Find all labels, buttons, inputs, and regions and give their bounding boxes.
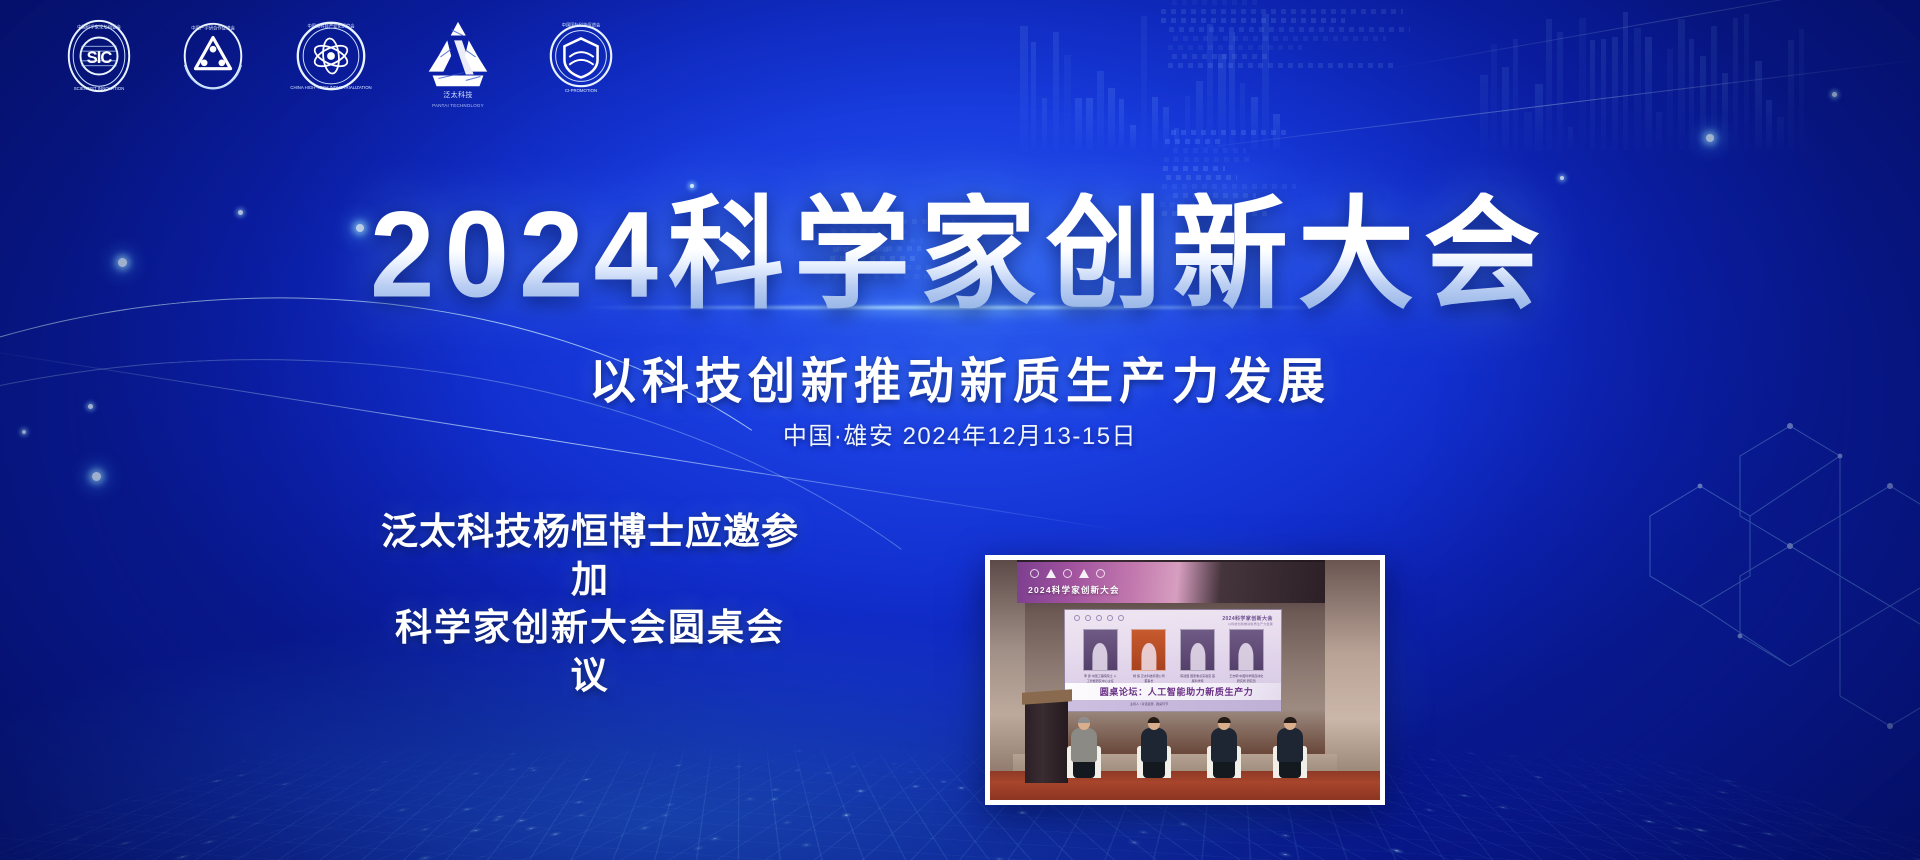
partner-logo-strip: SIC 中国科学家论坛组委会 SCIENTIST INNOVATION 中国产学… (60, 14, 620, 98)
panelist-body (1071, 728, 1097, 762)
backdrop-seal-icon-1 (1030, 569, 1039, 578)
screen-header-sub: 以科技创新推动新质生产力发展 (1222, 622, 1273, 626)
backdrop-seal-icon-3 (1096, 569, 1105, 578)
date-location-line: 中国·雄安 2024年12月13-15日 (0, 416, 1920, 451)
svg-text:SCIENTIST INNOVATION: SCIENTIST INNOVATION (74, 86, 125, 91)
panelist-body (1277, 728, 1303, 762)
screen-speaker-card: 杨 恒 泛太科技有限公司 董事长 (1131, 629, 1166, 683)
panelist-body (1211, 728, 1237, 762)
speaker-portrait (1180, 629, 1215, 671)
logo-delta-caption: 泛太科技 (410, 90, 506, 100)
photo-projection-screen: 2024科学家创新大会 以科技创新推动新质生产力发展 李 彦 中国工程院院士 人… (1064, 609, 1282, 712)
screen-speaker-cards: 李 彦 中国工程院院士 人工智能研究中心主任 杨 恒 泛太科技有限公司 董事长 … (1076, 629, 1271, 680)
logo-delta-caption-sub: PANTAI TECHNOLOGY (410, 103, 506, 108)
svg-text:CHINA HIGH-TECH INDUSTRIALIZAT: CHINA HIGH-TECH INDUSTRIALIZATION (290, 85, 371, 90)
conference-banner: SIC 中国科学家论坛组委会 SCIENTIST INNOVATION 中国产学… (0, 0, 1920, 860)
headline-line-2: 科学家创新大会圆桌会议 (380, 604, 800, 700)
photo-stage-backdrop: 2024科学家创新大会 (1017, 562, 1325, 603)
photo-backdrop-title: 2024科学家创新大会 (1028, 584, 1120, 596)
screen-icon-4 (1107, 615, 1113, 621)
screen-speaker-card: 陈建国 国家重点实验室 首席科学家 (1180, 629, 1215, 683)
panelist-hair (1148, 717, 1161, 723)
panelist-hair (1284, 717, 1297, 723)
roundtable-panel-photograph: 2024科学家创新大会 2024科学家创新大会 以科技创新推动新质生产力发展 李… (985, 555, 1385, 805)
screen-subtitle-bar: 主持人 / 对话嘉宾 · 圆桌环节 (1065, 700, 1281, 711)
screen-icon-1 (1074, 615, 1080, 621)
screen-icon-3 (1096, 615, 1102, 621)
svg-text:SIC: SIC (87, 48, 113, 67)
speaker-portrait (1083, 629, 1118, 671)
svg-text:CI-PROMOTION: CI-PROMOTION (565, 88, 597, 93)
screen-icon-2 (1085, 615, 1091, 621)
panelist-body (1141, 728, 1167, 762)
headline-line-1: 泛太科技杨恒博士应邀参加 (380, 508, 800, 604)
headline-block: 泛太科技杨恒博士应邀参加 科学家创新大会圆桌会议 (380, 508, 800, 700)
svg-text:中国高科技产业化研究会: 中国高科技产业化研究会 (307, 23, 355, 30)
speaker-portrait (1229, 629, 1264, 671)
panelist-hair (1077, 717, 1090, 723)
speaker-portrait (1131, 629, 1166, 671)
podium-top (1022, 689, 1072, 704)
svg-text:中国科学家论坛组委会: 中国科学家论坛组委会 (77, 24, 121, 31)
photo-podium (1025, 699, 1068, 783)
backdrop-delta-icon (1079, 569, 1089, 578)
logo-triangle-circular-seal: 中国产学研合作促进会 (174, 14, 252, 98)
backdrop-seal-icon-2 (1063, 569, 1072, 578)
logo-atom-circular-seal: 中国高科技产业化研究会 CHINA HIGH-TECH INDUSTRIALIZ… (288, 14, 374, 98)
backdrop-triangle-icon (1046, 569, 1056, 578)
screen-topic-text: 圆桌论坛：人工智能助力新质生产力 (1065, 685, 1253, 698)
logo-shield-circular-seal: 中国国际科技促进会 CI-PROMOTION (542, 14, 620, 98)
title-block: 2024科学家创新大会 (0, 196, 1920, 312)
screen-subtitle-text: 主持人 / 对话嘉宾 · 圆桌环节 (1065, 700, 1281, 706)
photo-wall-right (1325, 560, 1380, 781)
svg-text:中国产学研合作促进会: 中国产学研合作促进会 (191, 25, 235, 32)
screen-icon-5 (1118, 615, 1124, 621)
svg-text:中国国际科技促进会: 中国国际科技促进会 (562, 22, 601, 29)
screen-header: 2024科学家创新大会 以科技创新推动新质生产力发展 (1222, 615, 1273, 626)
subtitle: 以科技创新推动新质生产力发展 (0, 341, 1920, 413)
screen-speaker-card: 李 彦 中国工程院院士 人工智能研究中心主任 (1083, 629, 1118, 683)
screen-topic-banner: 圆桌论坛：人工智能助力新质生产力 (1065, 683, 1281, 700)
logo-sic-circular-seal: SIC 中国科学家论坛组委会 SCIENTIST INNOVATION (60, 14, 138, 98)
main-title: 2024科学家创新大会 (364, 193, 1556, 316)
screen-speaker-card: 王志明 中国科学院自动化研究所 研究员 (1229, 629, 1264, 683)
screen-icon-row (1074, 615, 1124, 621)
logo-delta-triangle: 泛太科技 PANTAI TECHNOLOGY (410, 14, 506, 98)
panelist-hair (1218, 717, 1231, 723)
photo-backdrop-icon-row (1030, 569, 1105, 578)
